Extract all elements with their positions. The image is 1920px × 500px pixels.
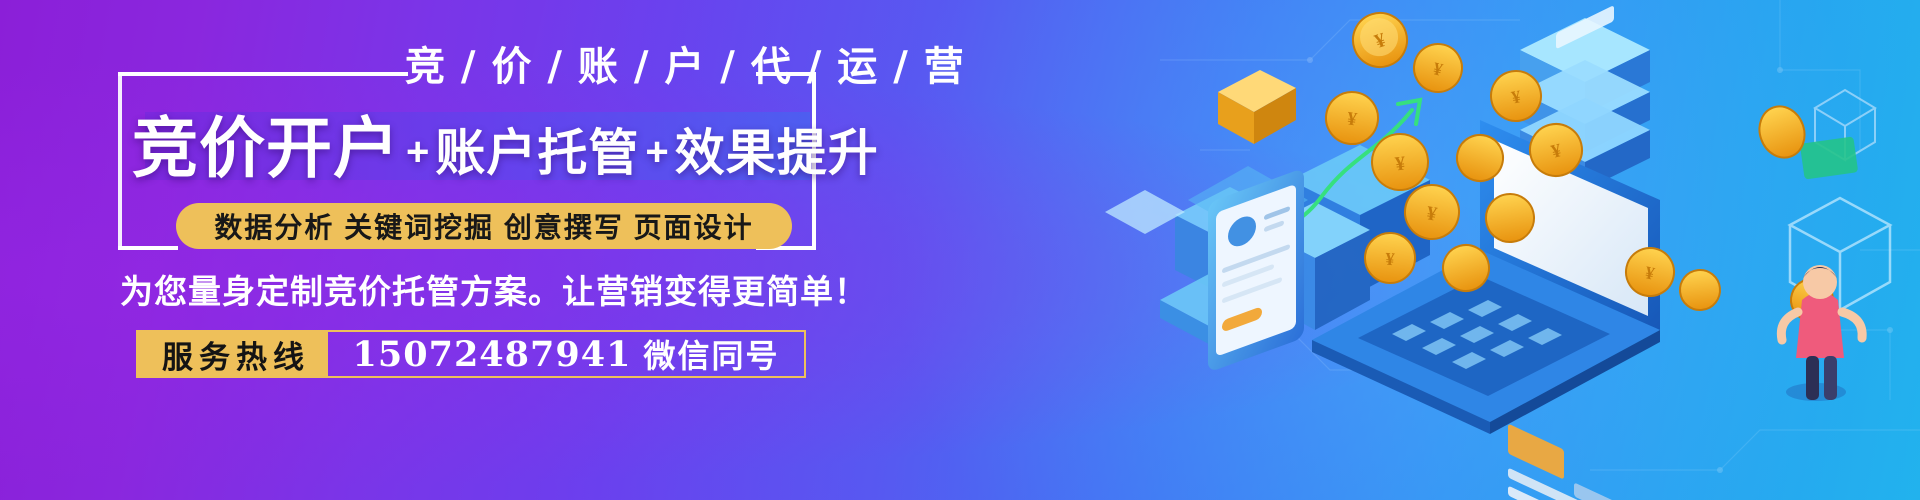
tagline: 竞 / 价 / 账 / 户 / 代 / 运 / 营 bbox=[405, 44, 965, 90]
headline-part-3: 效果提升 bbox=[675, 128, 879, 178]
subtitle: 为您量身定制竞价托管方案。让营销变得更简单！ bbox=[120, 266, 910, 312]
person-character bbox=[1781, 265, 1862, 401]
isometric-illustration: ¥ ¥ ¥ ¥ ¥ ¥ bbox=[960, 0, 1920, 500]
decor-bracket-top-rule bbox=[118, 72, 408, 76]
gold-bar bbox=[1218, 70, 1296, 144]
marketing-banner: ¥ ¥ ¥ ¥ ¥ ¥ bbox=[0, 0, 1920, 500]
headline: 竞价开户 + 账户托管 + 效果提升 bbox=[132, 104, 892, 192]
hotline-phone-number: 15072487941 bbox=[353, 334, 632, 375]
decor-bracket-bottom-rule bbox=[118, 246, 178, 250]
left-content: 竞 / 价 / 账 / 户 / 代 / 运 / 营 竞价开户 + 账户托管 + … bbox=[0, 0, 960, 500]
hotline-value[interactable]: 15072487941 微信同号 bbox=[328, 332, 804, 376]
services-pill: 数据分析 关键词挖掘 创意撰写 页面设计 bbox=[176, 203, 792, 249]
svg-text:¥: ¥ bbox=[1385, 249, 1395, 270]
headline-part-1: 竞价开户 bbox=[132, 115, 400, 181]
headline-part-2: 账户托管 bbox=[435, 128, 639, 178]
hotline-bar[interactable]: 服务热线 15072487941 微信同号 bbox=[136, 330, 806, 378]
hotline-wechat-note: 微信同号 bbox=[643, 331, 779, 377]
hotline-label: 服务热线 bbox=[138, 332, 328, 376]
headline-plus-2: + bbox=[639, 132, 674, 172]
green-card bbox=[1800, 136, 1858, 179]
headline-plus-1: + bbox=[400, 132, 435, 172]
